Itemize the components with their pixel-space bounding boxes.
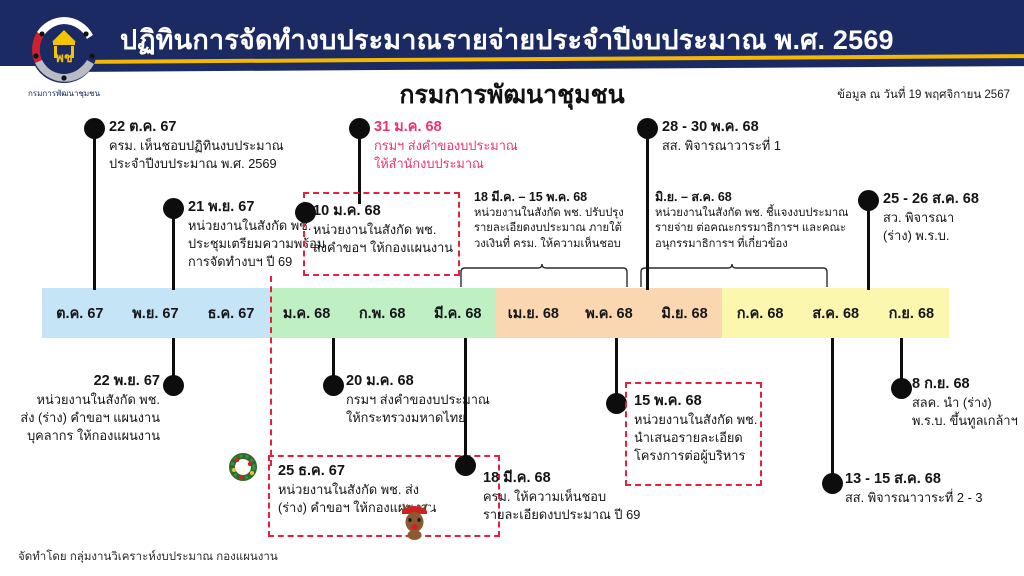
timeline-segment-q3: เม.ย. 68พ.ค. 68มิ.ย. 68 [496,288,723,338]
event-date: 25 ธ.ค. 67 [278,462,436,481]
christmas-wreath-icon [228,452,258,489]
event-date: มิ.ย. – ส.ค. 68 [655,189,849,206]
event-line: หน่วยงานในสังกัด พช. [313,221,453,239]
event-date: 8 ก.ย. 68 [912,375,1018,394]
timeline-month-q3-orange-1: พ.ค. 68 [571,288,647,338]
event-line: นำเสนอรายละเอียด [634,429,757,447]
marker-dot [606,393,627,414]
event-line: สส. พิจารณาวาระที่ 2 - 3 [845,489,983,507]
marker-dot [349,118,370,139]
timeline-month-q3-orange-2: มิ.ย. 68 [647,288,723,338]
event-line: สลค. นำ (ร่าง) [912,394,1018,412]
event-line: กรมฯ ส่งคำของบประมาณ [346,391,490,409]
event-28-30may68: 28 - 30 พ.ค. 68 สส. พิจารณาวาระที่ 1 [662,118,781,155]
event-line: พ.ร.บ. ขึ้นทูลเกล้าฯ [912,412,1018,430]
event-line: ให้กระทรวงมหาดไทย [346,409,490,427]
marker-stem [93,128,96,290]
event-15may68: 15 พ.ค. 68 หน่วยงานในสังกัด พช. นำเสนอรา… [634,392,757,465]
event-line: หน่วยงานในสังกัด พช. ส่ง [278,481,436,499]
event-line: ครม. เห็นชอบปฏิทินงบประมาณ [109,137,284,155]
event-line: ให้สำนักงบประมาณ [374,155,518,173]
event-line: วงเงินที่ ครม. ให้ความเห็นชอบ [474,237,624,253]
marker-dot [84,118,105,139]
timeline-month-q3-orange-0: เม.ย. 68 [496,288,572,338]
event-date: 20 ม.ค. 68 [346,372,490,391]
event-22nov67: 22 พ.ย. 67 หน่วยงานในสังกัด พช. ส่ง (ร่า… [0,372,160,445]
event-line: โครงการต่อผู้บริหาร [634,447,757,465]
marker-stem [831,338,834,480]
event-line: รายจ่าย ต่อคณะกรรมาธิการฯ และคณะ [655,221,849,237]
timeline-segment-q1: ต.ค. 67พ.ย. 67ธ.ค. 67 [42,288,269,338]
page-title: ปฏิทินการจัดทำงบประมาณรายจ่ายประจำปีงบปร… [120,18,980,61]
event-date: 22 พ.ย. 67 [0,372,160,391]
event-line: รายละเอียดงบประมาณ ปี 69 [483,506,640,524]
timeline-month-q1-blue-0: ต.ค. 67 [42,288,118,338]
event-date: 25 - 26 ส.ค. 68 [883,190,979,209]
event-20jan68: 20 ม.ค. 68 กรมฯ ส่งคำของบประมาณ ให้กระทร… [346,372,490,427]
event-line: ส่งคำขอฯ ให้กองแผนงาน [313,239,453,257]
event-18mar68: 18 มี.ค. 68 ครม. ให้ความเห็นชอบ รายละเอี… [483,469,640,524]
marker-stem [615,338,618,400]
event-line: ประจำปีงบประมาณ พ.ศ. 2569 [109,155,284,173]
timeline-month-q4-yellow-1: ส.ค. 68 [798,288,874,338]
event-line: หน่วยงานในสังกัด พช. ปรับปรุง [474,206,624,222]
event-date: 18 มี.ค. 68 [483,469,640,488]
event-line: ครม. ให้ความเห็นชอบ [483,488,640,506]
marker-dot [163,198,184,219]
timeline-segment-q4: ก.ค. 68ส.ค. 68ก.ย. 68 [722,288,949,338]
event-line: รายละเอียดงบประมาณ ภายใต้ [474,221,624,237]
event-8sep68: 8 ก.ย. 68 สลค. นำ (ร่าง) พ.ร.บ. ขึ้นทูลเ… [912,375,1018,430]
event-10jan68: 10 ม.ค. 68 หน่วยงานในสังกัด พช. ส่งคำขอฯ… [313,202,453,257]
event-13-15aug68: 13 - 15 ส.ค. 68 สส. พิจารณาวาระที่ 2 - 3 [845,470,983,507]
timeline-month-q2-green-2: มี.ค. 68 [420,288,496,338]
event-line: หน่วยงานในสังกัด พช. [0,391,160,409]
event-line: กรมฯ ส่งคำของบประมาณ [374,137,518,155]
marker-dot [822,473,843,494]
event-18mar-15may68: 18 มี.ค. – 15 พ.ค. 68 หน่วยงานในสังกัด พ… [474,189,624,253]
event-date: 22 ต.ค. 67 [109,118,284,137]
timeline-month-q4-yellow-0: ก.ค. 68 [722,288,798,338]
christmas-reindeer-icon [398,500,432,545]
timeline-month-q1-blue-2: ธ.ค. 67 [193,288,269,338]
timeline-month-q2-green-1: ก.พ. 68 [344,288,420,338]
span-bracket-mar-may [460,262,628,288]
footer-credit: จัดทำโดย กลุ่มงานวิเคราะห์งบประมาณ กองแผ… [18,548,278,566]
marker-dot [891,378,912,399]
marker-stem [646,128,649,290]
event-line: บุคลากร ให้กองแผนงาน [0,427,160,445]
highlight-connector-line [270,276,272,466]
event-line: หน่วยงานในสังกัด พช. ชี้แจงงบประมาณ [655,206,849,222]
timeline-month-q1-blue-1: พ.ย. 67 [118,288,194,338]
event-date: 18 มี.ค. – 15 พ.ค. 68 [474,189,624,206]
event-date: 28 - 30 พ.ค. 68 [662,118,781,137]
event-jun-aug68: มิ.ย. – ส.ค. 68 หน่วยงานในสังกัด พช. ชี้… [655,189,849,253]
infographic-canvas: พช กรมการพัฒนาชุมชน ปฏิทินการจัดทำงบประม… [0,0,1024,576]
event-line: หน่วยงานในสังกัด พช. [634,411,757,429]
timeline-month-q2-green-0: ม.ค. 68 [269,288,345,338]
timeline-month-q4-yellow-2: ก.ย. 68 [874,288,950,338]
event-line: (ร่าง) พ.ร.บ. [883,227,979,245]
marker-dot [637,118,658,139]
event-25-26aug68: 25 - 26 ส.ค. 68 สว. พิจารณา (ร่าง) พ.ร.บ… [883,190,979,245]
timeline-segment-q2: ม.ค. 68ก.พ. 68มี.ค. 68 [269,288,496,338]
data-as-of-stamp: ข้อมูล ณ วันที่ 19 พฤศจิกายน 2567 [837,86,1010,104]
event-31jan68: 31 ม.ค. 68 กรมฯ ส่งคำของบประมาณ ให้สำนัก… [374,118,518,173]
event-line: อนุกรรมาธิการฯ ที่เกี่ยวข้อง [655,237,849,253]
event-line: สว. พิจารณา [883,209,979,227]
svg-text:พช: พช [55,51,73,66]
event-line: ส่ง (ร่าง) คำขอฯ แผนงาน [0,409,160,427]
marker-stem [172,208,175,290]
event-22oct67: 22 ต.ค. 67 ครม. เห็นชอบปฏิทินงบประมาณ ปร… [109,118,284,173]
marker-stem [464,338,467,456]
event-date: 31 ม.ค. 68 [374,118,518,137]
marker-dot [323,375,344,396]
timeline-bar: ต.ค. 67พ.ย. 67ธ.ค. 67 ม.ค. 68ก.พ. 68มี.ค… [42,288,950,338]
span-bracket-jun-aug [640,262,828,288]
event-date: 15 พ.ค. 68 [634,392,757,411]
marker-dot [455,455,476,476]
marker-dot [163,375,184,396]
event-date: 10 ม.ค. 68 [313,202,453,221]
event-line: สส. พิจารณาวาระที่ 1 [662,137,781,155]
marker-dot [858,190,879,211]
event-date: 13 - 15 ส.ค. 68 [845,470,983,489]
marker-stem [867,200,870,290]
